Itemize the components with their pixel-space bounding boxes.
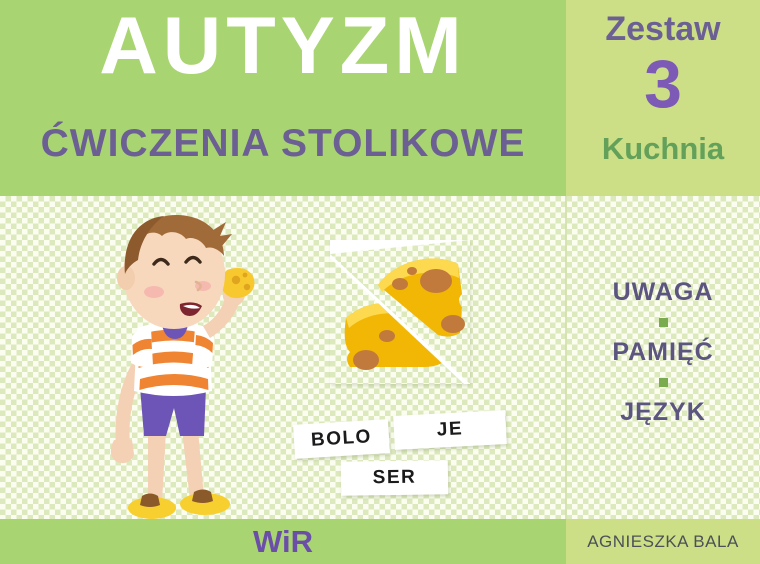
keyword-jezyk: JĘZYK (566, 400, 760, 425)
cheese-puzzle-graphic (330, 240, 470, 384)
bullet-square-icon (659, 318, 668, 327)
cheese-puzzle-card (330, 240, 470, 384)
set-topic: Kuchnia (566, 133, 760, 164)
word-card-bolo[interactable]: BOLO (293, 419, 390, 459)
set-label: Zestaw (566, 12, 760, 46)
set-number: 3 (566, 50, 760, 118)
publisher-logo[interactable]: WiR (0, 519, 566, 564)
book-cover: AUTYZM ĆWICZENIA STOLIKOWE Zestaw 3 Kuch… (0, 0, 760, 564)
panel-divider (565, 196, 567, 519)
keyword-pamiec: PAMIĘĆ (566, 340, 760, 365)
page-subtitle: ĆWICZENIA STOLIKOWE (0, 124, 566, 163)
main-illustration-area: BOLO JE SER UWAGA PAMIĘĆ JĘZYK (0, 196, 760, 519)
word-card-ser[interactable]: SER (341, 460, 448, 495)
publisher-logo-text: WiR (253, 526, 313, 557)
boy-character-illustration (70, 212, 270, 527)
bullet-square-icon (659, 378, 668, 387)
keyword-uwaga: UWAGA (566, 280, 760, 305)
author-name: AGNIESZKA BALA (566, 519, 760, 564)
keywords-panel: UWAGA PAMIĘĆ JĘZYK (566, 280, 760, 425)
word-card-je[interactable]: JE (393, 410, 507, 450)
cover-header: AUTYZM ĆWICZENIA STOLIKOWE Zestaw 3 Kuch… (0, 0, 760, 196)
page-title: AUTYZM (0, 6, 566, 87)
